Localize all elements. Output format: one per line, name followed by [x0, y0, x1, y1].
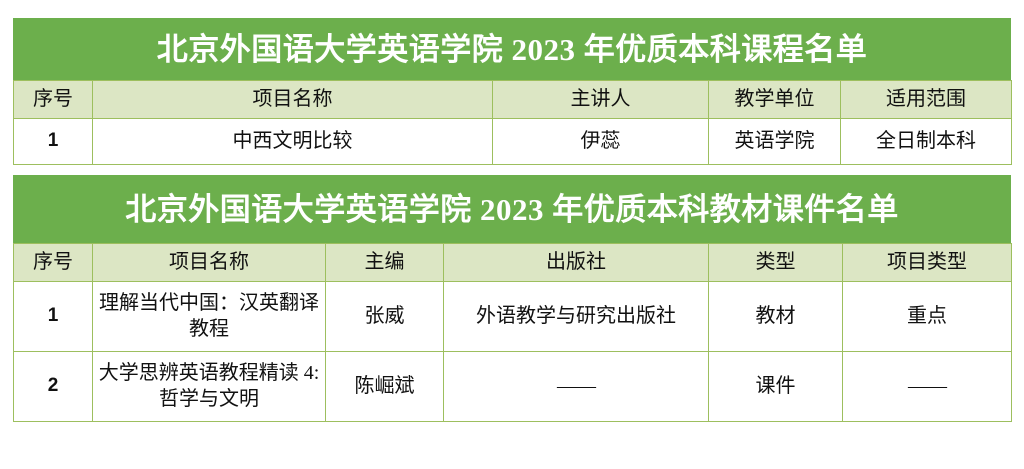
course-list-table: 序号 项目名称 主讲人 教学单位 适用范围 1 中西文明比较 伊蕊 英语学院 全…: [13, 80, 1012, 165]
column-header-index: 序号: [14, 81, 93, 119]
document-page: 北京外国语大学英语学院 2023 年优质本科课程名单 序号 项目名称 主讲人 教…: [0, 0, 1024, 469]
table-row: 2 大学思辨英语教程精读 4:哲学与文明 陈崛斌 —— 课件 ——: [14, 352, 1012, 422]
section2-title-banner: 北京外国语大学英语学院 2023 年优质本科教材课件名单: [13, 175, 1011, 243]
cell-project-name: 中西文明比较: [93, 119, 493, 165]
column-header-unit: 教学单位: [709, 81, 841, 119]
cell-teaching-unit: 英语学院: [709, 119, 841, 165]
cell-type: 教材: [709, 282, 843, 352]
tables-container: 北京外国语大学英语学院 2023 年优质本科课程名单 序号 项目名称 主讲人 教…: [13, 18, 1011, 422]
section-spacer: [13, 165, 1011, 175]
cell-index: 2: [14, 352, 93, 422]
cell-index: 1: [14, 282, 93, 352]
column-header-scope: 适用范围: [841, 81, 1012, 119]
cell-index: 1: [14, 119, 93, 165]
column-header-project-name: 项目名称: [93, 81, 493, 119]
table-row: 1 理解当代中国：汉英翻译教程 张威 外语教学与研究出版社 教材 重点: [14, 282, 1012, 352]
cell-project-name: 大学思辨英语教程精读 4:哲学与文明: [93, 352, 326, 422]
column-header-lecturer: 主讲人: [493, 81, 709, 119]
cell-scope: 全日制本科: [841, 119, 1012, 165]
column-header-publisher: 出版社: [444, 244, 709, 282]
column-header-project-type: 项目类型: [843, 244, 1012, 282]
column-header-project-name: 项目名称: [93, 244, 326, 282]
textbook-courseware-table: 序号 项目名称 主编 出版社 类型 项目类型 1 理解当代中国：汉英翻译教程 张…: [13, 243, 1012, 422]
cell-project-type: ——: [843, 352, 1012, 422]
column-header-type: 类型: [709, 244, 843, 282]
table-row: 1 中西文明比较 伊蕊 英语学院 全日制本科: [14, 119, 1012, 165]
cell-publisher: ——: [444, 352, 709, 422]
section1-title-banner: 北京外国语大学英语学院 2023 年优质本科课程名单: [13, 18, 1011, 80]
cell-project-name: 理解当代中国：汉英翻译教程: [93, 282, 326, 352]
cell-lecturer: 伊蕊: [493, 119, 709, 165]
table-header-row: 序号 项目名称 主讲人 教学单位 适用范围: [14, 81, 1012, 119]
cell-type: 课件: [709, 352, 843, 422]
table-header-row: 序号 项目名称 主编 出版社 类型 项目类型: [14, 244, 1012, 282]
column-header-editor: 主编: [326, 244, 444, 282]
cell-project-type: 重点: [843, 282, 1012, 352]
cell-editor: 陈崛斌: [326, 352, 444, 422]
cell-publisher: 外语教学与研究出版社: [444, 282, 709, 352]
column-header-index: 序号: [14, 244, 93, 282]
cell-editor: 张威: [326, 282, 444, 352]
